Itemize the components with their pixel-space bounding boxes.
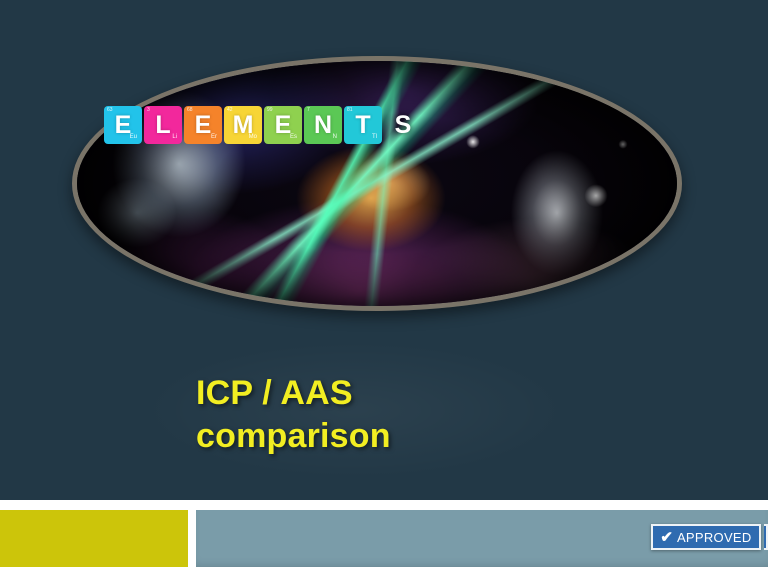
element-symbol: S <box>395 113 412 138</box>
element-number: 42 <box>227 108 233 113</box>
element-number: 68 <box>187 108 193 113</box>
status-badge-label: APPROVED <box>677 531 752 544</box>
check-icon: ✔ <box>660 530 673 545</box>
element-symbol: E <box>275 113 292 138</box>
page-title: ICP / AAS comparison <box>196 372 626 458</box>
element-name: Er <box>211 134 217 140</box>
element-number: 7 <box>307 108 310 113</box>
element-symbol: N <box>314 113 332 138</box>
element-tile: 3 L Li <box>144 106 182 144</box>
element-name: Es <box>290 134 297 140</box>
element-number: 63 <box>107 108 113 113</box>
element-tile: S <box>384 106 422 144</box>
title-line-1: ICP / AAS <box>196 372 626 415</box>
cosmic-background-art <box>77 61 677 306</box>
element-number: 3 <box>147 108 150 113</box>
element-symbol: T <box>355 113 370 138</box>
status-badge-approved[interactable]: ✔ APPROVED <box>651 524 761 550</box>
presentation-slide: 63 E Eu 3 L Li 68 E Er 42 M Mo 99 E Es 7… <box>0 0 768 576</box>
element-tile: 81 T Tl <box>344 106 382 144</box>
element-name: N <box>333 134 337 140</box>
element-name: Tl <box>372 134 377 140</box>
element-tile: 99 E Es <box>264 106 302 144</box>
element-symbol: L <box>155 113 170 138</box>
element-symbol: E <box>195 113 212 138</box>
element-tile: 42 M Mo <box>224 106 262 144</box>
footer-accent-block <box>0 510 188 567</box>
element-tile: 68 E Er <box>184 106 222 144</box>
element-tile: 7 N N <box>304 106 342 144</box>
element-tile: 63 E Eu <box>104 106 142 144</box>
element-name: Li <box>172 134 177 140</box>
status-badge-overflow-sliver <box>764 524 768 550</box>
title-line-2: comparison <box>196 415 626 458</box>
element-number: 99 <box>267 108 273 113</box>
element-name: Eu <box>130 134 137 140</box>
element-name: Mo <box>249 134 257 140</box>
elements-word-tiles: 63 E Eu 3 L Li 68 E Er 42 M Mo 99 E Es 7… <box>104 106 422 144</box>
element-number: 81 <box>347 108 353 113</box>
hero-oval-image <box>72 56 682 311</box>
